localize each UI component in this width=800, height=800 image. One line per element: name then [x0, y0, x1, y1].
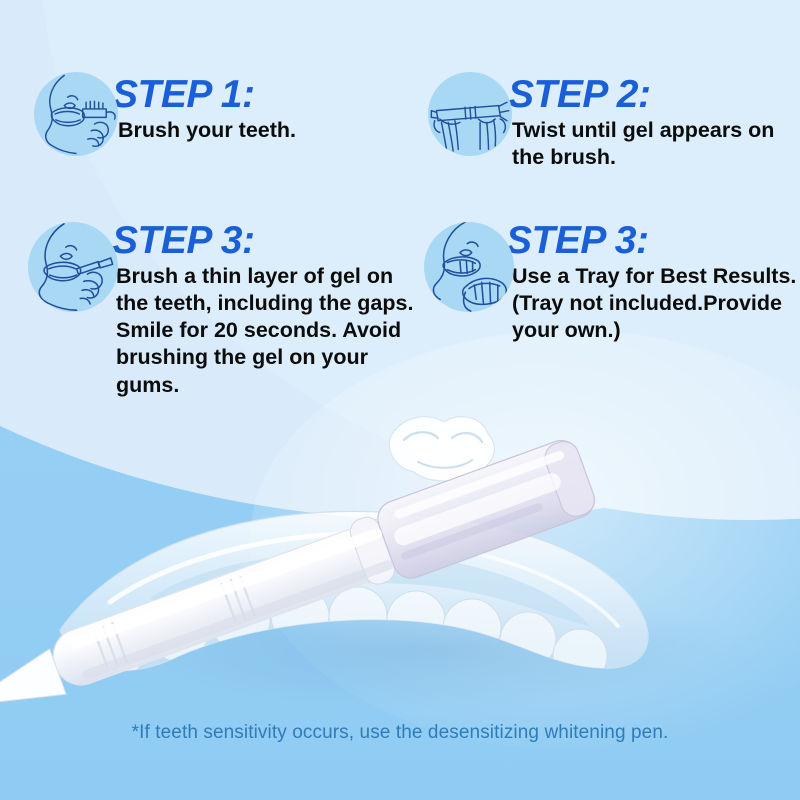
step-text-1: STEP 1: Brush your teeth.	[112, 72, 296, 144]
step-body-2: Twist until gel appears on the brush.	[508, 117, 800, 171]
step-body-3: Brush a thin layer of gel on the teeth, …	[112, 263, 418, 398]
face-brushing-teeth-icon	[34, 72, 118, 156]
sensitivity-note: *If teeth sensitivity occurs, use the de…	[0, 722, 800, 744]
step-item-2: STEP 2: Twist until gel appears on the b…	[428, 72, 800, 171]
step-title-2: STEP 2:	[508, 76, 800, 114]
step-item-1: STEP 1: Brush your teeth.	[34, 72, 414, 156]
step-text-3: STEP 3: Brush a thin layer of gel on the…	[112, 222, 418, 399]
steps-grid: STEP 1: Brush your teeth.	[0, 0, 800, 440]
step-title-4: STEP 3:	[506, 222, 800, 260]
step-text-2: STEP 2: Twist until gel appears on the b…	[508, 72, 800, 171]
step-item-3: STEP 3: Brush a thin layer of gel on the…	[28, 222, 418, 399]
step-title-3: STEP 3:	[112, 222, 418, 260]
face-with-dental-tray-icon	[424, 222, 514, 312]
instruction-poster: STEP 1: Brush your teeth.	[0, 0, 800, 800]
step-title-1: STEP 1:	[112, 76, 296, 114]
step-body-4: Use a Tray for Best Results. (Tray not i…	[506, 263, 800, 344]
step-item-4: STEP 3: Use a Tray for Best Results. (Tr…	[424, 222, 800, 344]
step-body-1: Brush your teeth.	[112, 117, 296, 144]
hands-twisting-pen-icon	[428, 72, 512, 156]
step-text-4: STEP 3: Use a Tray for Best Results. (Tr…	[506, 222, 800, 344]
face-applying-gel-pen-icon	[28, 222, 118, 312]
